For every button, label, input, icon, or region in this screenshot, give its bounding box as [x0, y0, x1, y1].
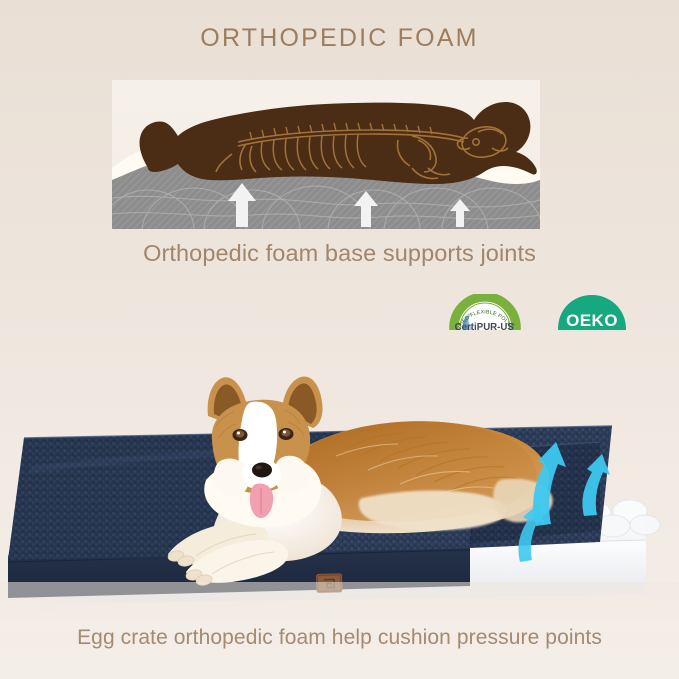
- diagram-caption: Orthopedic foam base supports joints: [0, 240, 679, 267]
- certipur-registered-mark: ®: [512, 322, 515, 327]
- product-photo: [0, 330, 679, 630]
- product-caption: Egg crate orthopedic foam help cushion p…: [0, 626, 679, 650]
- dog-silhouette: [140, 102, 537, 184]
- orthopedic-foam-cross-section-diagram: [112, 80, 540, 229]
- marketing-image: ORTHOPEDIC FOAM: [0, 0, 679, 679]
- oeko-line1: OEKO: [566, 311, 618, 330]
- page-title: ORTHOPEDIC FOAM: [0, 24, 679, 53]
